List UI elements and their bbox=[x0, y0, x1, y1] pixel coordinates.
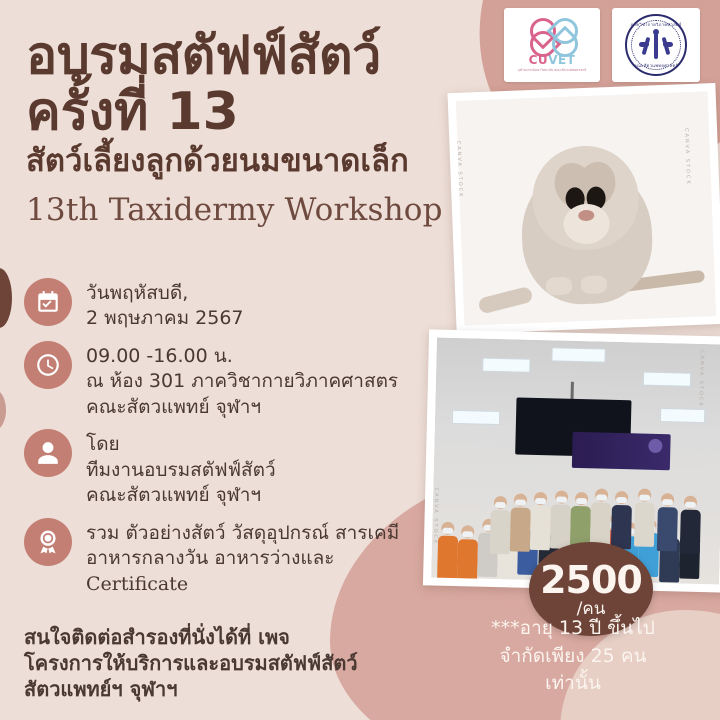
info-row-includes: รวม ตัวอย่างสัตว์ วัสดุอุปกรณ์ สารเคมี อ… bbox=[24, 518, 434, 597]
contact-line-2: โครงการให้บริการและอบรมสตัฟฟ์สัตว์ bbox=[24, 650, 424, 676]
event-banner bbox=[572, 432, 671, 470]
person-icon bbox=[24, 429, 72, 477]
note-line-3: เท่านั้น bbox=[448, 670, 698, 698]
headline-block: อบรมสตัฟฟ์สัตว์ ครั้งที่ 13 สัตว์เลี้ยงล… bbox=[26, 30, 446, 228]
seal-text-bottom: คณะสัตวแพทยศาสตร์ bbox=[627, 62, 685, 69]
info-time-line-1: 09.00 -16.00 น. bbox=[86, 344, 398, 369]
calendar-check-icon bbox=[24, 278, 72, 326]
info-row-date: วันพฤหัสบดี, 2 พฤษภาคม 2567 bbox=[24, 278, 434, 332]
note-line-1: ***อายุ 13 ปี ขึ้นไป bbox=[448, 615, 698, 643]
rodent-foot bbox=[477, 286, 533, 315]
info-includes-line-1: รวม ตัวอย่างสัตว์ วัสดุอุปกรณ์ สารเคมี bbox=[86, 521, 399, 546]
title-line-2: ครั้งที่ 13 bbox=[26, 85, 446, 140]
decor-blob-left-dark bbox=[0, 268, 12, 328]
department-seal-logo: ภาควิชากายวิภาคศาสตร์ คณะสัตวแพทยศาสตร์ bbox=[612, 8, 700, 82]
seal-circle: ภาควิชากายวิภาคศาสตร์ คณะสัตวแพทยศาสตร์ bbox=[625, 14, 687, 76]
info-includes-line-3: Certificate bbox=[86, 572, 399, 597]
info-row-organizer: โดย ทีมงานอบรมสตัฟฟ์สัตว์ คณะสัตวแพทย์ จ… bbox=[24, 429, 434, 508]
info-time-line-2: ณ ห้อง 301 ภาควิชากายวิภาคศาสตร bbox=[86, 369, 398, 394]
seal-emblem-icon bbox=[641, 29, 671, 61]
ceiling-light bbox=[660, 408, 706, 423]
info-list: วันพฤหัสบดี, 2 พฤษภาคม 2567 09.00 -16.00… bbox=[24, 278, 434, 606]
ceiling-light bbox=[552, 348, 606, 363]
logo-group: CUVET จุฬาลงกรณ์มหาวิทยาลัย คณะสัตวแพทยศ… bbox=[504, 8, 700, 82]
cuvet-subtitle: จุฬาลงกรณ์มหาวิทยาลัย คณะสัตวแพทยศาสตร์ bbox=[518, 68, 587, 72]
title-line-3: สัตว์เลี้ยงลูกด้วยนมขนาดเล็ก bbox=[26, 144, 446, 178]
clock-icon bbox=[24, 341, 72, 389]
rodent-illustration bbox=[456, 91, 716, 326]
ceiling-light bbox=[452, 410, 500, 425]
contact-line-3: สัตวแพทย์ฯ จุฬาฯ bbox=[24, 676, 424, 702]
info-organizer-line-2: ทีมงานอบรมสตัฟฟ์สัตว์ bbox=[86, 458, 276, 483]
ceiling-light bbox=[482, 358, 530, 373]
decor-blob-left-light bbox=[0, 390, 6, 430]
rodent-photo: CANVA STOCK CANVA STOCK bbox=[447, 83, 720, 334]
price-amount: 2500 bbox=[540, 561, 642, 599]
info-time-line-3: คณะสัตวแพทย์ จุฬาฯ bbox=[86, 395, 398, 420]
info-organizer-line-1: โดย bbox=[86, 432, 276, 457]
info-row-time-text: 09.00 -16.00 น. ณ ห้อง 301 ภาควิชากายวิภ… bbox=[86, 341, 398, 420]
rodent-paw-right bbox=[581, 275, 608, 294]
info-row-organizer-text: โดย ทีมงานอบรมสตัฟฟ์สัตว์ คณะสัตวแพทย์ จ… bbox=[86, 429, 276, 508]
eligibility-note: ***อายุ 13 ปี ขึ้นไป จำกัดเพียง 25 คน เท… bbox=[448, 615, 698, 698]
cuvet-logo: CUVET จุฬาลงกรณ์มหาวิทยาลัย คณะสัตวแพทยศ… bbox=[504, 8, 600, 82]
rodent-paw-left bbox=[546, 277, 573, 296]
ceiling-light bbox=[643, 371, 691, 386]
info-date-line-1: วันพฤหัสบดี, bbox=[86, 281, 244, 306]
info-row-date-text: วันพฤหัสบดี, 2 พฤษภาคม 2567 bbox=[86, 278, 244, 332]
banner-emblem bbox=[649, 439, 663, 453]
title-line-1: อบรมสตัฟฟ์สัตว์ bbox=[26, 30, 446, 83]
info-includes-line-2: อาหารกลางวัน อาหารว่างและ bbox=[86, 546, 399, 571]
rodent-photo-inner: CANVA STOCK CANVA STOCK bbox=[456, 91, 716, 326]
contact-line-1: สนใจติดต่อสำรองที่นั่งได้ที่ เพจ bbox=[24, 624, 424, 650]
info-row-time-place: 09.00 -16.00 น. ณ ห้อง 301 ภาควิชากายวิภ… bbox=[24, 341, 434, 420]
poster-canvas: CANVA STOCK CANVA STOCK bbox=[0, 0, 720, 720]
info-row-includes-text: รวม ตัวอย่างสัตว์ วัสดุอุปกรณ์ สารเคมี อ… bbox=[86, 518, 399, 597]
contact-block: สนใจติดต่อสำรองที่นั่งได้ที่ เพจ โครงการ… bbox=[24, 624, 424, 702]
seal-text-top: ภาควิชากายวิภาคศาสตร์ bbox=[627, 21, 685, 28]
info-date-line-2: 2 พฤษภาคม 2567 bbox=[86, 306, 244, 331]
title-english: 13th Taxidermy Workshop bbox=[26, 192, 446, 228]
cuvet-mark-icon bbox=[526, 18, 578, 52]
note-line-2: จำกัดเพียง 25 คน bbox=[448, 643, 698, 671]
award-medal-icon bbox=[24, 518, 72, 566]
info-organizer-line-3: คณะสัตวแพทย์ จุฬาฯ bbox=[86, 483, 276, 508]
